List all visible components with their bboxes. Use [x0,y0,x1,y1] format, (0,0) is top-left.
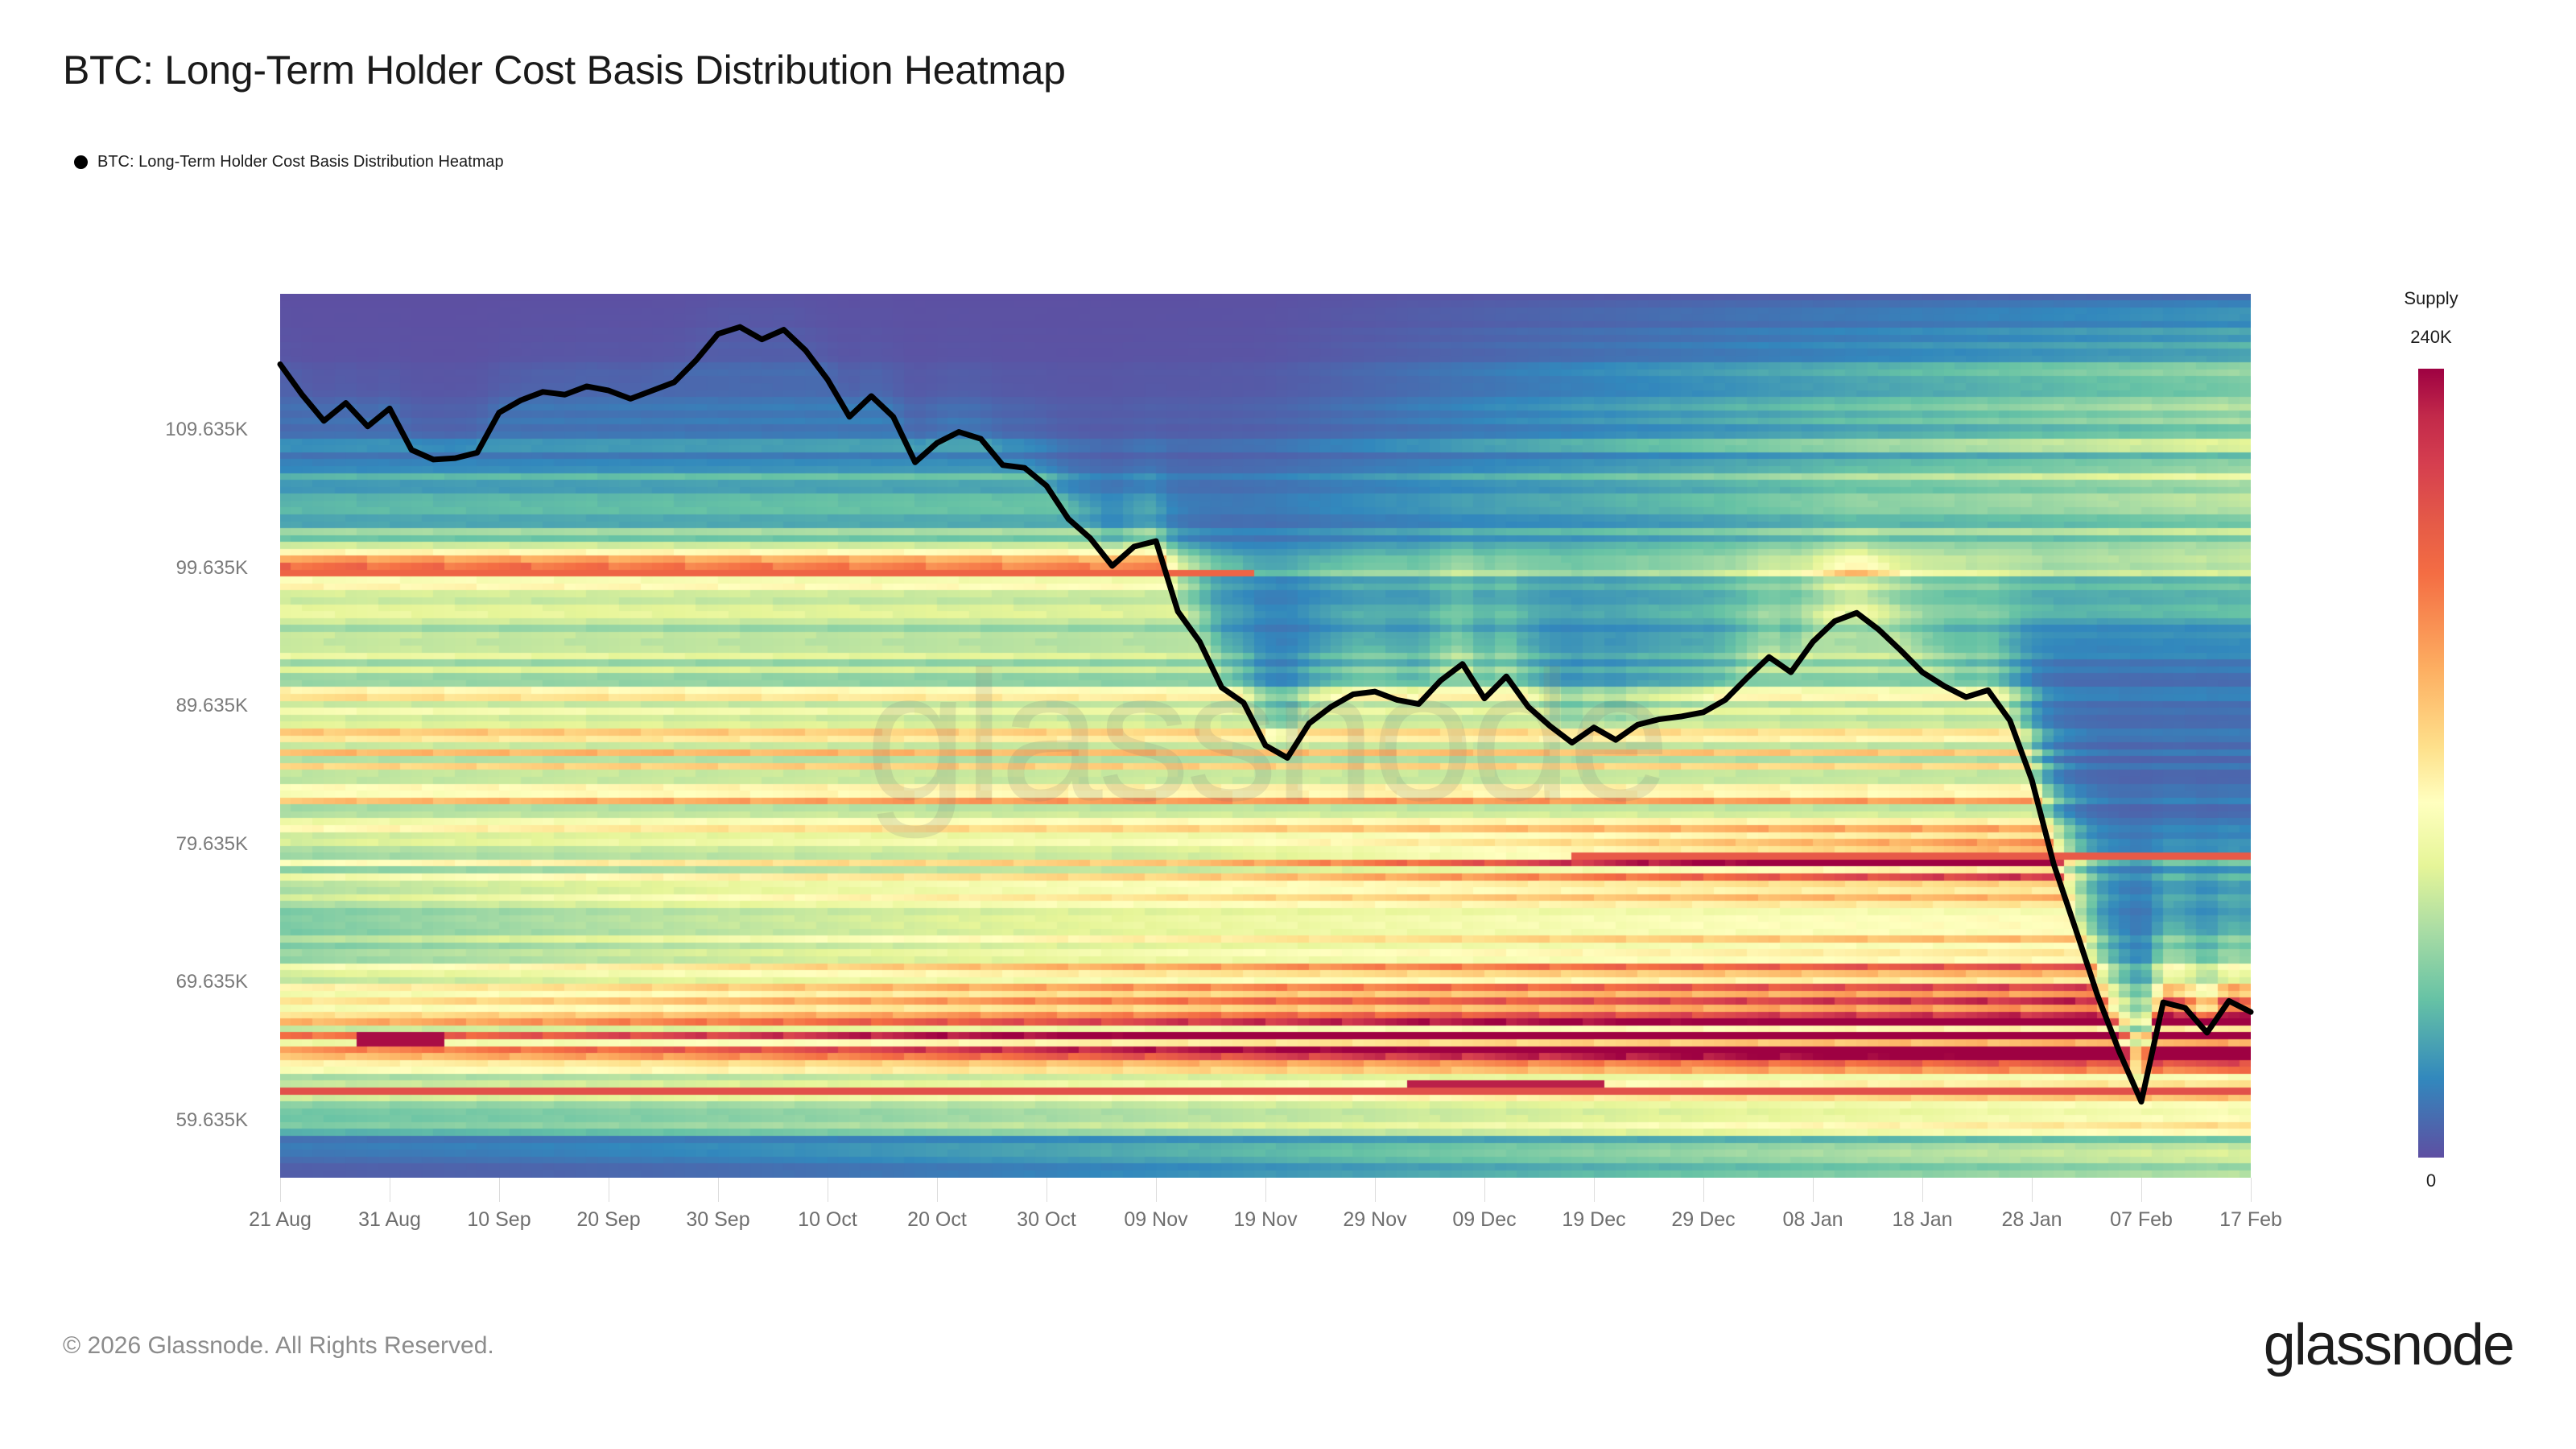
x-axis-gridline [1156,1178,1157,1202]
x-axis-gridline [2032,1178,2033,1202]
x-axis-tick-label: 20 Oct [907,1208,967,1232]
x-axis-tick-label: 08 Jan [1782,1208,1843,1232]
colorbar-min-label: 0 [2426,1170,2436,1191]
colorbar: Supply 240K 0 [2359,288,2504,1238]
x-axis-gridline [1375,1178,1376,1202]
filled-circle-icon [74,155,88,169]
x-axis-gridline [609,1178,609,1202]
x-axis-gridline [1813,1178,1814,1202]
price-line-layer [280,294,2251,1178]
x-axis-tick-label: 20 Sep [576,1208,640,1232]
colorbar-gradient [2418,369,2444,1158]
y-axis-tick-label: 99.635K [176,557,248,580]
x-axis-tick-label: 10 Sep [467,1208,530,1232]
x-axis-gridline [1594,1178,1595,1202]
x-axis-gridline [937,1178,938,1202]
x-axis-tick-label: 18 Jan [1892,1208,1952,1232]
y-axis-tick-label: 79.635K [176,833,248,856]
x-axis-gridline [499,1178,500,1202]
x-axis-gridline [1484,1178,1485,1202]
x-axis-tick-label: 29 Nov [1343,1208,1406,1232]
x-axis-tick-label: 21 Aug [249,1208,312,1232]
x-axis-tick-label: 29 Dec [1671,1208,1735,1232]
x-axis-tick-label: 19 Dec [1562,1208,1625,1232]
x-axis-gridline [2141,1178,2142,1202]
x-axis-tick-label: 09 Nov [1124,1208,1187,1232]
x-axis-gridline [828,1178,828,1202]
x-axis-gridline [390,1178,390,1202]
x-axis-gridline [2251,1178,2252,1202]
x-axis-tick-label: 30 Sep [686,1208,749,1232]
y-axis-tick-label: 109.635K [165,419,248,441]
colorbar-max-label: 240K [2410,327,2451,348]
y-axis: 109.635K99.635K89.635K79.635K69.635K59.6… [0,294,266,1178]
x-axis-gridline [1265,1178,1266,1202]
x-axis-tick-label: 17 Feb [2219,1208,2282,1232]
page-title: BTC: Long-Term Holder Cost Basis Distrib… [63,47,1066,93]
y-axis-tick-label: 59.635K [176,1109,248,1132]
brand-logo: glassnode [2264,1312,2513,1378]
x-axis-gridline [1703,1178,1704,1202]
x-axis-tick-label: 30 Oct [1017,1208,1076,1232]
x-axis-tick-label: 07 Feb [2110,1208,2173,1232]
y-axis-tick-label: 89.635K [176,695,248,717]
x-axis-gridline [1922,1178,1923,1202]
colorbar-title: Supply [2404,288,2458,309]
series-legend-label: BTC: Long-Term Holder Cost Basis Distrib… [97,153,504,171]
series-legend[interactable]: BTC: Long-Term Holder Cost Basis Distrib… [74,153,504,171]
x-axis: 21 Aug31 Aug10 Sep20 Sep30 Sep10 Oct20 O… [280,1178,2251,1250]
y-axis-tick-label: 69.635K [176,971,248,993]
x-axis-tick-label: 09 Dec [1452,1208,1516,1232]
x-axis-tick-label: 19 Nov [1233,1208,1297,1232]
x-axis-tick-label: 28 Jan [2001,1208,2062,1232]
x-axis-gridline [280,1178,281,1202]
x-axis-gridline [718,1178,719,1202]
plot-area[interactable]: glassnode [280,294,2251,1178]
x-axis-gridline [1046,1178,1047,1202]
x-axis-tick-label: 31 Aug [358,1208,421,1232]
x-axis-tick-label: 10 Oct [798,1208,857,1232]
footer-copyright: © 2026 Glassnode. All Rights Reserved. [63,1332,494,1360]
price-line [280,327,2251,1101]
